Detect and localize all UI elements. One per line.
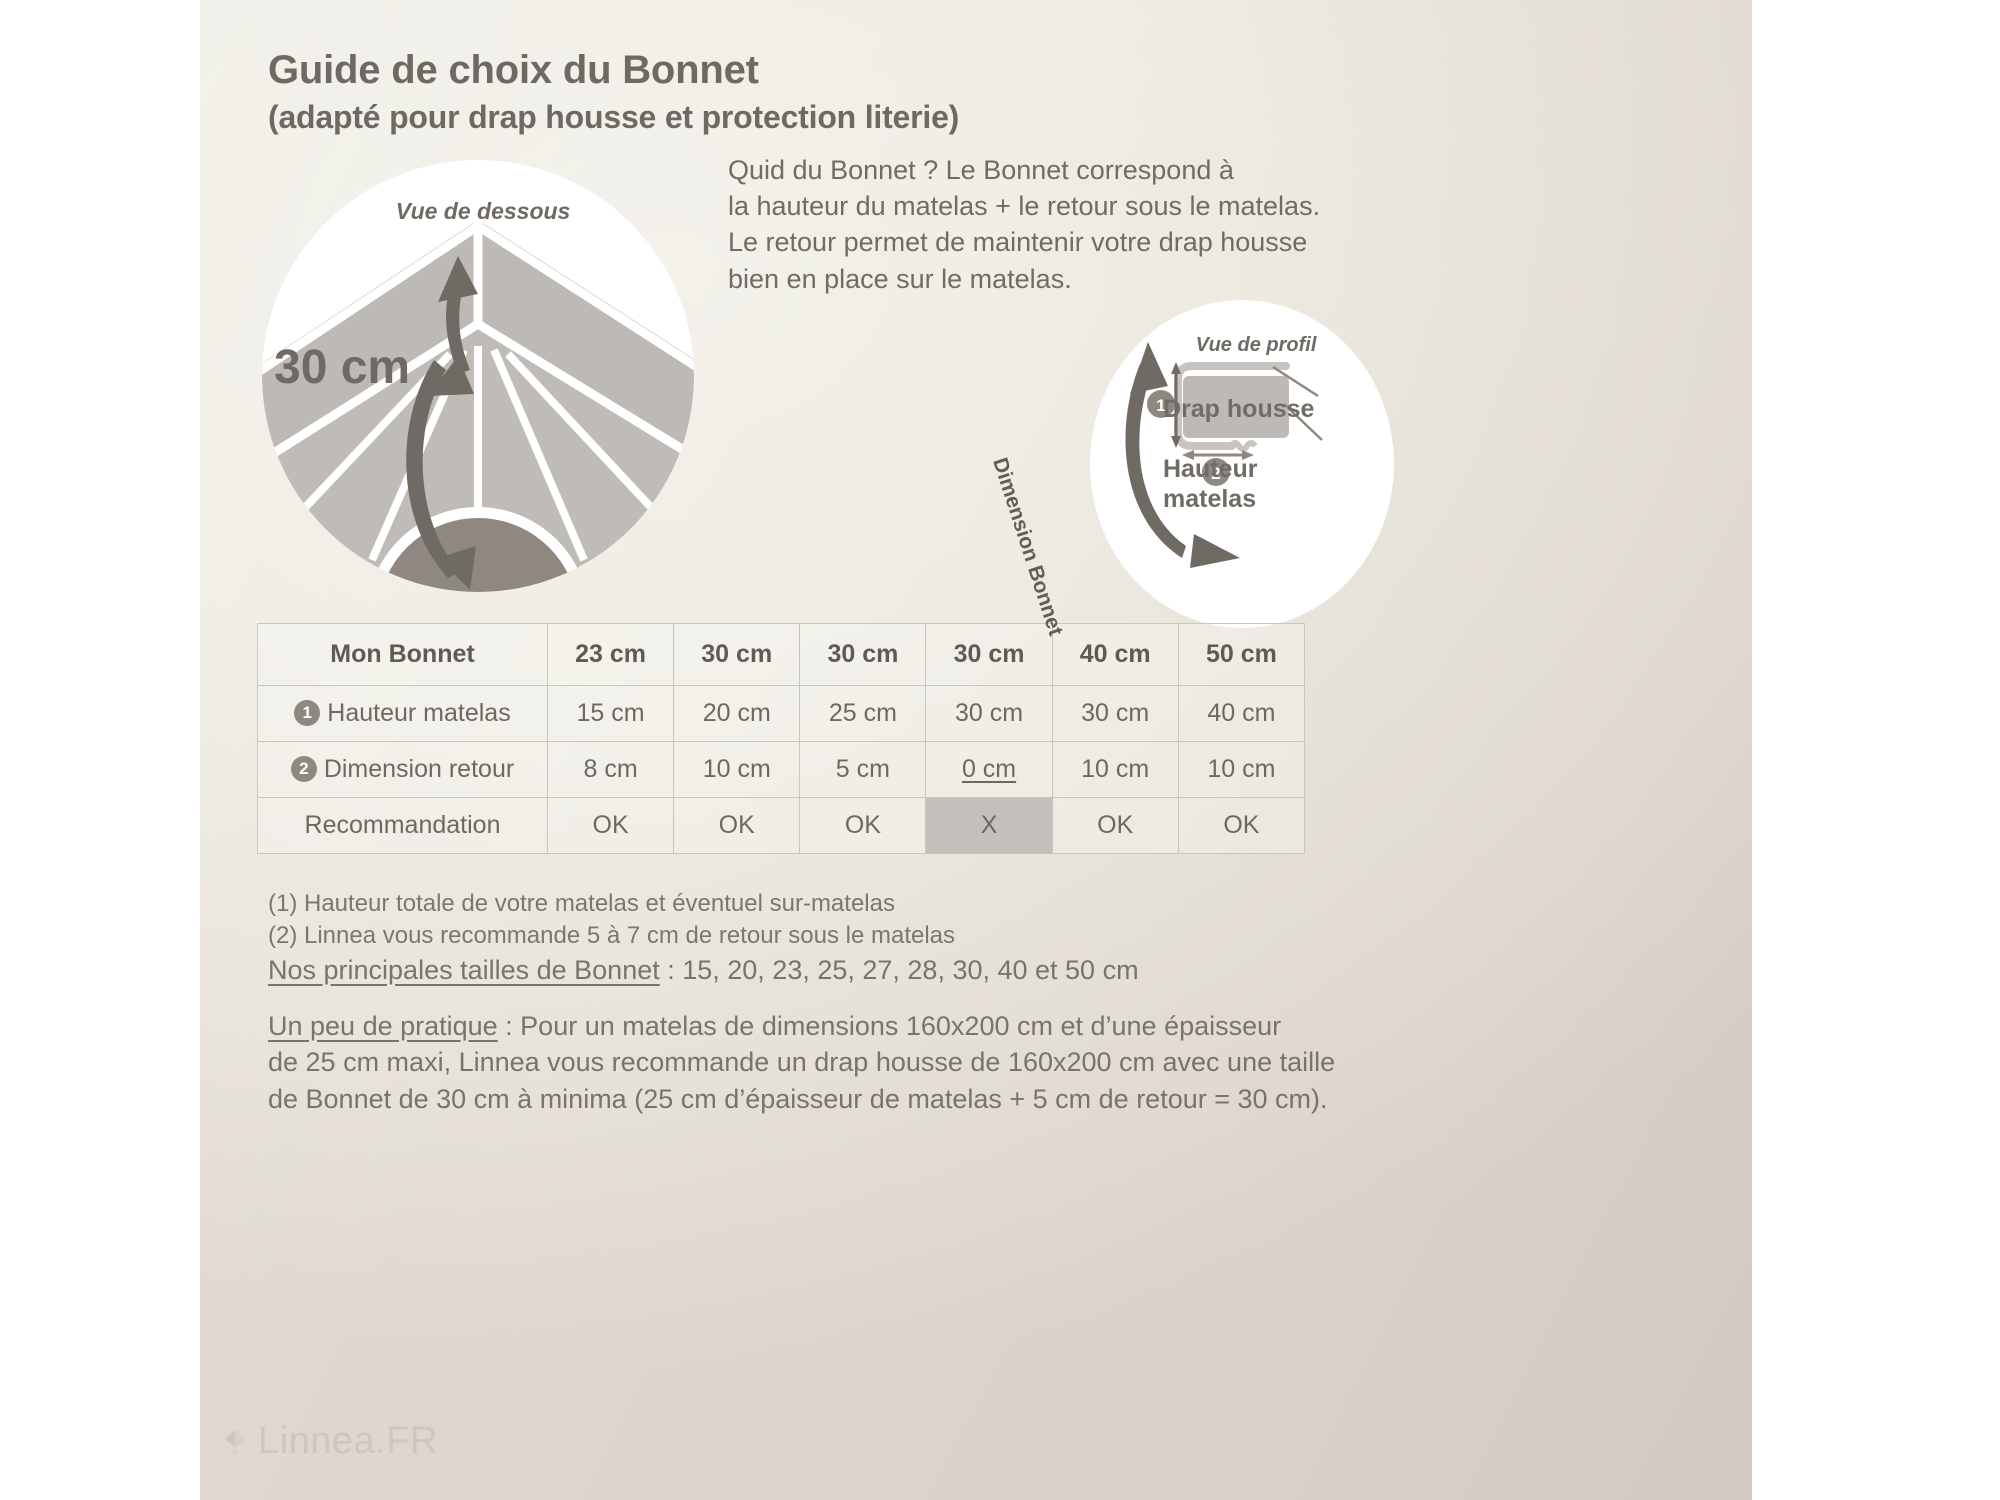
table-cell-value: OK (1223, 811, 1259, 839)
intro-paragraph: Quid du Bonnet ? Le Bonnet correspond à … (728, 152, 1348, 297)
linnea-logo: Linnea.FR (222, 1420, 438, 1463)
practice-label: Un peu de pratique (268, 1011, 498, 1041)
table-cell-value: 23 cm (575, 640, 646, 668)
table-cell: 40 cm (1052, 624, 1178, 686)
table-cell: 5 cm (800, 742, 926, 798)
row-label-text: Hauteur matelas (327, 699, 510, 727)
table-cell-value: 8 cm (583, 755, 637, 783)
table-cell: 10 cm (674, 742, 800, 798)
table-cell-value: OK (1097, 811, 1133, 839)
table-cell-value: 10 cm (1081, 755, 1149, 783)
intro-line-3: Le retour permet de maintenir votre drap… (728, 224, 1348, 260)
table-cell: 40 cm (1178, 686, 1304, 742)
row-label-text: Mon Bonnet (330, 640, 474, 668)
table-cell: 50 cm (1178, 624, 1304, 686)
table-cell-value: 40 cm (1080, 640, 1151, 668)
table-row-label: Recommandation (258, 798, 548, 854)
sizes-label: Nos principales tailles de Bonnet (268, 955, 660, 985)
callout-drap-housse: Drap housse (1163, 395, 1314, 425)
table-cell: 10 cm (1052, 742, 1178, 798)
bonnet-spec-table: Mon Bonnet23 cm30 cm30 cm30 cm40 cm50 cm… (257, 623, 1305, 854)
table-cell: OK (1052, 798, 1178, 854)
callout-hauteur-matelas: Hauteur matelas (1163, 455, 1257, 514)
footnotes: (1) Hauteur totale de votre matelas et é… (268, 888, 1328, 952)
table-cell-value: X (981, 811, 998, 839)
bottom-view-diagram: Vue de dessous 30 cm (262, 160, 694, 592)
intro-line-4: bien en place sur le matelas. (728, 261, 1348, 297)
table-cell: 20 cm (674, 686, 800, 742)
table-cell: 30 cm (800, 624, 926, 686)
intro-line-2: la hauteur du matelas + le retour sous l… (728, 188, 1348, 224)
table-cell-value: 50 cm (1206, 640, 1277, 668)
table-cell-value: 0 cm (962, 755, 1016, 783)
table-row: 2Dimension retour8 cm10 cm5 cm0 cm10 cm1… (258, 742, 1305, 798)
table-cell: 30 cm (674, 624, 800, 686)
sizes-value: : 15, 20, 23, 25, 27, 28, 30, 40 et 50 c… (660, 955, 1139, 985)
bottom-view-label: Vue de dessous (262, 198, 694, 225)
profile-view-label: Vue de profil (1146, 334, 1366, 357)
footnote-1: (1) Hauteur totale de votre matelas et é… (268, 888, 1328, 920)
table-row: Mon Bonnet23 cm30 cm30 cm30 cm40 cm50 cm (258, 624, 1305, 686)
table-cell-value: 30 cm (701, 640, 772, 668)
table-cell: 8 cm (548, 742, 674, 798)
linnea-diamond-icon (222, 1426, 248, 1458)
table-cell-value: 25 cm (829, 699, 897, 727)
table-cell-value: 10 cm (1207, 755, 1275, 783)
table-cell: OK (548, 798, 674, 854)
table-cell-value: 30 cm (955, 699, 1023, 727)
table-cell-value: 20 cm (703, 699, 771, 727)
practice-line-2: de 25 cm maxi, Linnea vous recommande un… (268, 1044, 1348, 1080)
infographic-page: Guide de choix du Bonnet (adapté pour dr… (0, 0, 2000, 1500)
table-cell-value: 30 cm (827, 640, 898, 668)
table-cell: OK (800, 798, 926, 854)
intro-line-1: Quid du Bonnet ? Le Bonnet correspond à (728, 152, 1348, 188)
table-cell-value: OK (845, 811, 881, 839)
callout-hauteur-line-1: Hauteur (1163, 455, 1257, 485)
table-cell: 30 cm (926, 686, 1052, 742)
table-cell: 10 cm (1178, 742, 1304, 798)
page-title: Guide de choix du Bonnet (268, 48, 1368, 93)
table-cell-value: 5 cm (836, 755, 890, 783)
table-cell-value: OK (593, 811, 629, 839)
table-cell-value: 30 cm (954, 640, 1025, 668)
callout-hauteur-line-2: matelas (1163, 485, 1257, 515)
table-cell-value: 30 cm (1081, 699, 1149, 727)
table-cell-value: 40 cm (1207, 699, 1275, 727)
footnote-2: (2) Linnea vous recommande 5 à 7 cm de r… (268, 920, 1328, 952)
table-cell: X (926, 798, 1052, 854)
table-cell: 0 cm (926, 742, 1052, 798)
table-row-label: 1Hauteur matelas (258, 686, 548, 742)
table-cell: 25 cm (800, 686, 926, 742)
table-row: 1Hauteur matelas15 cm20 cm25 cm30 cm30 c… (258, 686, 1305, 742)
table-cell-value: 10 cm (703, 755, 771, 783)
row-badge-1: 1 (294, 700, 320, 726)
table-cell: 30 cm (926, 624, 1052, 686)
page-subtitle: (adapté pour drap housse et protection l… (268, 99, 1368, 136)
table-cell: OK (674, 798, 800, 854)
logo-text: Linnea.FR (258, 1420, 438, 1463)
table-cell-value: 15 cm (577, 699, 645, 727)
bottom-view-measure: 30 cm (274, 340, 410, 395)
table-cell: 23 cm (548, 624, 674, 686)
row-badge-2: 2 (291, 756, 317, 782)
table-row: RecommandationOKOKOKXOKOK (258, 798, 1305, 854)
row-label-text: Recommandation (305, 811, 501, 839)
row-label-text: Dimension retour (324, 755, 514, 783)
table-cell: 30 cm (1052, 686, 1178, 742)
table-cell: 15 cm (548, 686, 674, 742)
table-cell: OK (1178, 798, 1304, 854)
practice-line-3: de Bonnet de 30 cm à minima (25 cm d’épa… (268, 1081, 1348, 1117)
sizes-line: Nos principales tailles de Bonnet : 15, … (268, 955, 1368, 986)
title-block: Guide de choix du Bonnet (adapté pour dr… (268, 48, 1368, 136)
practice-block: Un peu de pratique : Pour un matelas de … (268, 1008, 1348, 1117)
table-row-label: Mon Bonnet (258, 624, 548, 686)
table-row-label: 2Dimension retour (258, 742, 548, 798)
table-cell-value: OK (719, 811, 755, 839)
practice-line-1: : Pour un matelas de dimensions 160x200 … (498, 1011, 1281, 1041)
